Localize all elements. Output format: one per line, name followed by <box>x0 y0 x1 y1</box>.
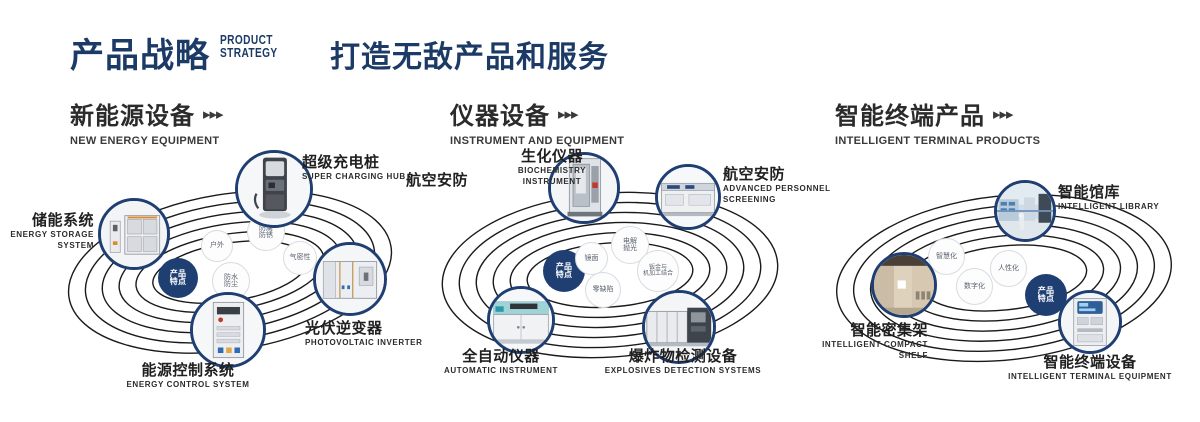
caption-energy-control-system: 能源控制系统 ENERGY CONTROL SYSTEM <box>88 362 288 390</box>
library-interior-icon <box>997 183 1053 239</box>
node-advanced-personnel-screening[interactable] <box>655 164 721 230</box>
feature-bubble-digital: 数字化 <box>956 268 993 305</box>
chevrons-right-icon: ▸▸▸ <box>993 105 1013 123</box>
caption-intelligent-compact-shelf: 智能密集架 INTELLIGENT COMPACT SHELF <box>758 322 928 361</box>
feature-bubble-mirror: 镜面 <box>575 242 608 275</box>
poster-canvas: 产品战略 PRODUCT STRATEGY 打造无敌产品和服务 新能源设备▸▸▸… <box>0 0 1200 422</box>
feature-bubble-zero-defect: 零缺陷 <box>585 272 621 308</box>
chevrons-right-icon: ▸▸▸ <box>203 105 223 123</box>
page-title-english: PRODUCT STRATEGY <box>220 33 278 59</box>
section-title-new-energy: 新能源设备▸▸▸ NEW ENERGY EQUIPMENT <box>70 96 223 147</box>
node-photovoltaic-inverter[interactable] <box>313 242 387 316</box>
inverter-cabinet-icon <box>316 245 384 313</box>
compact-shelf-icon <box>874 255 934 315</box>
section-title-instrument: 仪器设备▸▸▸ INSTRUMENT AND EQUIPMENT <box>450 96 624 147</box>
node-automatic-instrument[interactable] <box>487 286 555 354</box>
node-intelligent-terminal-equipment[interactable] <box>1058 290 1122 354</box>
feature-bubble-sheetmetal: 钣金与机加工结合 <box>637 250 679 292</box>
section-2-title-en: INSTRUMENT AND EQUIPMENT <box>450 135 624 147</box>
charging-pile-icon <box>238 153 310 225</box>
automatic-instrument-icon <box>490 289 552 351</box>
node-intelligent-library[interactable] <box>994 180 1056 242</box>
feature-bubble-humanized: 人性化 <box>990 250 1027 287</box>
caption-automatic-instrument: 全自动仪器 AUTOMATIC INSTRUMENT <box>401 348 601 376</box>
page-title: 产品战略 <box>70 28 210 77</box>
section-3-title-cn: 智能终端产品 <box>835 96 985 131</box>
section-1-title-en: NEW ENERGY EQUIPMENT <box>70 135 223 147</box>
section-title-intelligent: 智能终端产品▸▸▸ INTELLIGENT TERMINAL PRODUCTS <box>835 96 1040 147</box>
node-energy-storage-system[interactable] <box>98 198 170 270</box>
energy-storage-cabinet-icon <box>101 201 167 267</box>
diagram-instrument: 产品特点 镜面 电解抛光 零缺陷 钣金与机加工结合 航空安防 <box>415 150 805 410</box>
caption-aviation-security-left: 航空安防 <box>406 172 468 189</box>
node-energy-control-system[interactable] <box>190 292 266 368</box>
primary-bubble-line2: 特点 <box>170 278 186 286</box>
diagram-intelligent: 智慧化 数字化 人性化 产品特点 <box>808 150 1200 410</box>
caption-super-charging-hub: 超级充电桩 SUPER CHARGING HUB <box>302 154 406 182</box>
page-subtitle: 打造无敌产品和服务 <box>330 32 609 76</box>
caption-biochemistry-instrument: 生化仪器 BIOCHEMISTRY INSTRUMENT <box>477 148 627 187</box>
screening-machine-icon <box>658 167 718 227</box>
node-intelligent-compact-shelf[interactable] <box>871 252 937 318</box>
caption-photovoltaic-inverter: 光伏逆变器 PHOTOVOLTAIC INVERTER <box>305 320 423 348</box>
caption-energy-storage-system: 储能系统 ENERGY STORAGE SYSTEM <box>2 212 94 251</box>
self-service-kiosk-icon <box>1061 293 1119 351</box>
chevrons-right-icon: ▸▸▸ <box>558 105 578 123</box>
diagram-new-energy: 产品特点 户外 防腐防锈 防水防尘 气密性 <box>40 150 420 410</box>
page-title-en-line2: STRATEGY <box>220 46 278 59</box>
section-2-title-cn: 仪器设备 <box>450 96 550 131</box>
control-cabinet-icon <box>193 295 263 365</box>
caption-intelligent-library: 智能馆库 INTELLIGENT LIBRARY <box>1058 184 1159 212</box>
section-3-title-en: INTELLIGENT TERMINAL PRODUCTS <box>835 135 1040 147</box>
feature-bubble-outdoor: 户外 <box>201 230 233 262</box>
caption-intelligent-terminal-equipment: 智能终端设备 INTELLIGENT TERMINAL EQUIPMENT <box>990 354 1190 382</box>
feature-bubble-airtight: 气密性 <box>283 241 317 275</box>
section-1-title-cn: 新能源设备 <box>70 96 195 131</box>
